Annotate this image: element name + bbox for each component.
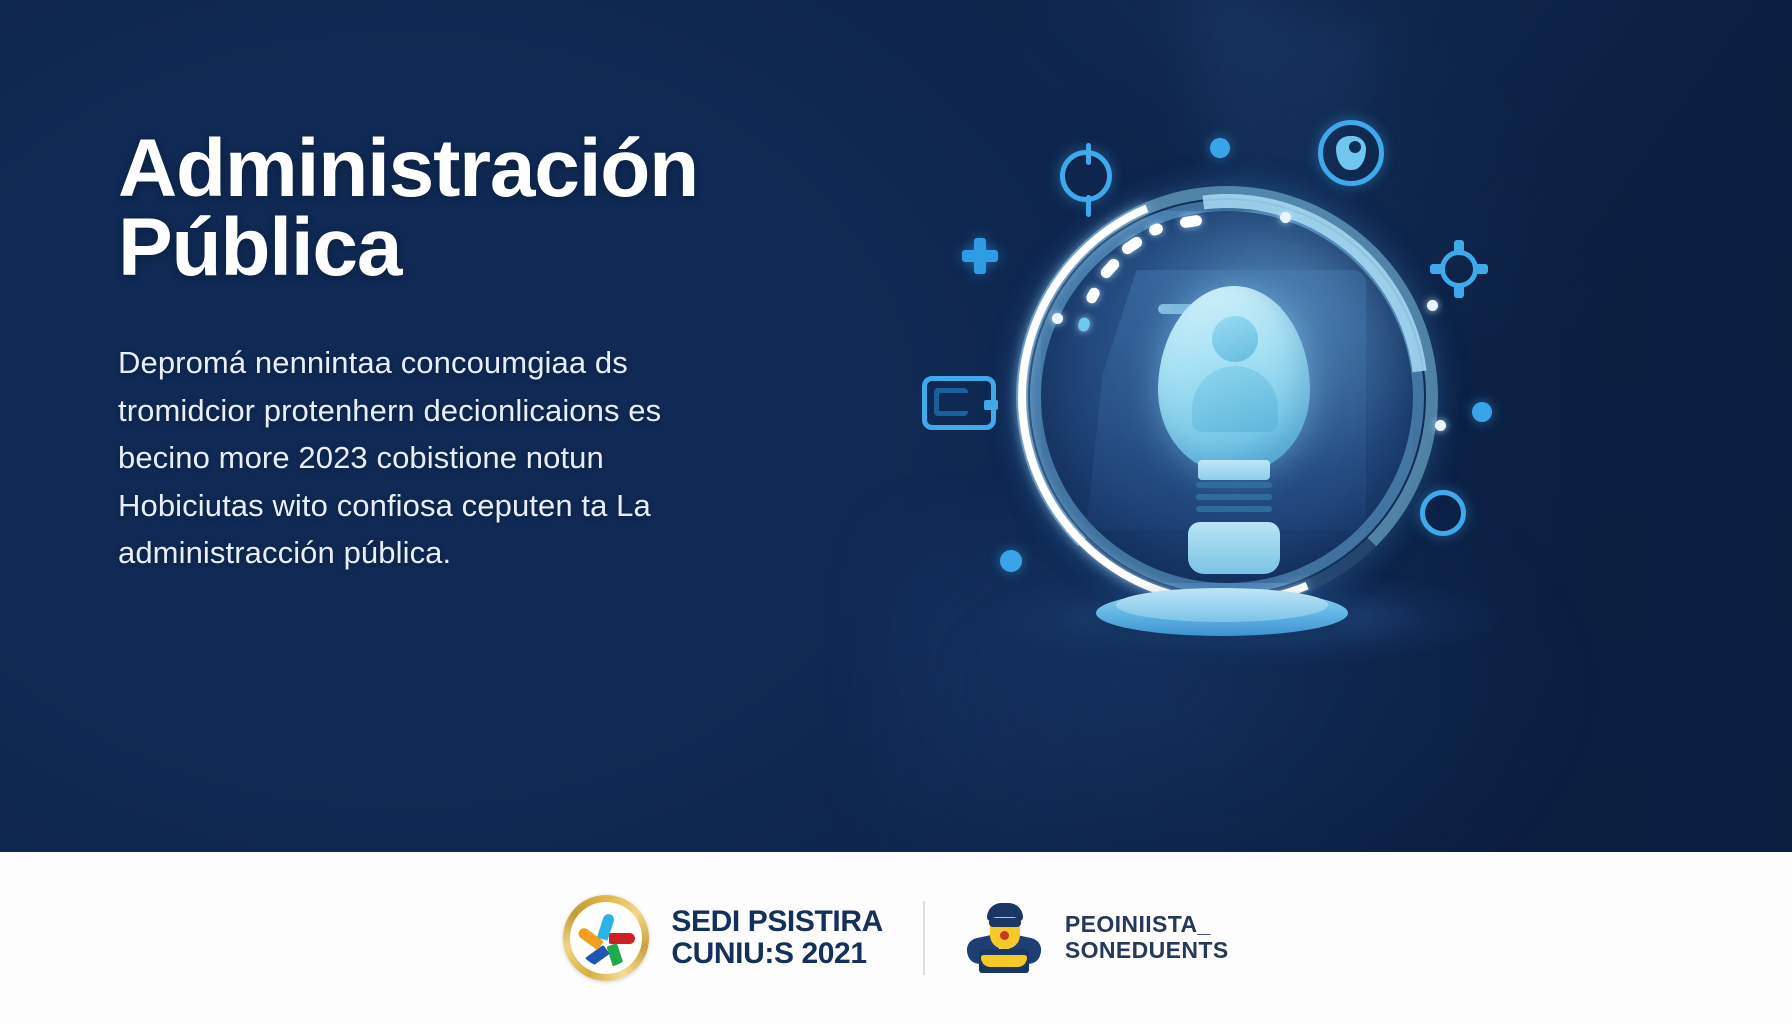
secondary-logo-text: PEOINIISTA_ SONEDUENTS xyxy=(1065,912,1229,964)
emblem-blade xyxy=(609,933,635,944)
target-icon xyxy=(1060,150,1112,202)
location-pin-icon xyxy=(1318,120,1384,186)
primary-logo-text: SEDI PSISTIRA CUNIU:S 2021 xyxy=(671,906,883,970)
pinwheel-emblem-icon xyxy=(563,895,649,981)
orb-node-dot xyxy=(1052,313,1063,324)
lightbulb-thread xyxy=(1196,494,1272,500)
lightbulb-thread xyxy=(1196,506,1272,512)
ring-icon xyxy=(1420,490,1466,536)
lightbulb-base-cap xyxy=(1188,522,1280,574)
orb-node-dot xyxy=(1427,300,1438,311)
orb-stand-highlight xyxy=(1116,588,1328,622)
footer-logo-group: SEDI PSISTIRA CUNIU:S 2021 PEOINIISTA_ S… xyxy=(563,895,1228,981)
hero-section: Administración Pública Depromá nennintaa… xyxy=(0,0,1792,852)
secondary-logo-lockup[interactable]: PEOINIISTA_ SONEDUENTS xyxy=(965,901,1229,975)
plus-icon xyxy=(962,238,998,274)
dot-icon xyxy=(1210,138,1230,158)
hero-text-column: Administración Pública Depromá nennintaa… xyxy=(118,130,918,577)
person-head-silhouette xyxy=(1212,316,1258,362)
footer-divider xyxy=(923,901,925,975)
emblem-blade xyxy=(607,943,625,967)
chat-window-icon xyxy=(922,376,996,430)
network-node-icon xyxy=(1430,240,1488,298)
dot-icon xyxy=(1000,550,1022,572)
hero-body-text: Depromá nennintaa concoumgiaa ds tromidc… xyxy=(118,339,858,576)
banner-root: Administración Pública Depromá nennintaa… xyxy=(0,0,1792,1024)
orb-node-dot xyxy=(1435,420,1446,431)
dot-icon xyxy=(1472,402,1492,422)
lightbulb-thread xyxy=(1196,482,1272,488)
hero-illustration xyxy=(900,90,1660,730)
official-person-mark-icon xyxy=(965,901,1043,975)
lightbulb-neck xyxy=(1198,460,1270,480)
footer-bar: SEDI PSISTIRA CUNIU:S 2021 PEOINIISTA_ S… xyxy=(0,852,1792,1024)
primary-logo-lockup[interactable]: SEDI PSISTIRA CUNIU:S 2021 xyxy=(563,895,883,981)
orb-node-dot xyxy=(1280,212,1291,223)
page-title: Administración Pública xyxy=(118,130,918,287)
